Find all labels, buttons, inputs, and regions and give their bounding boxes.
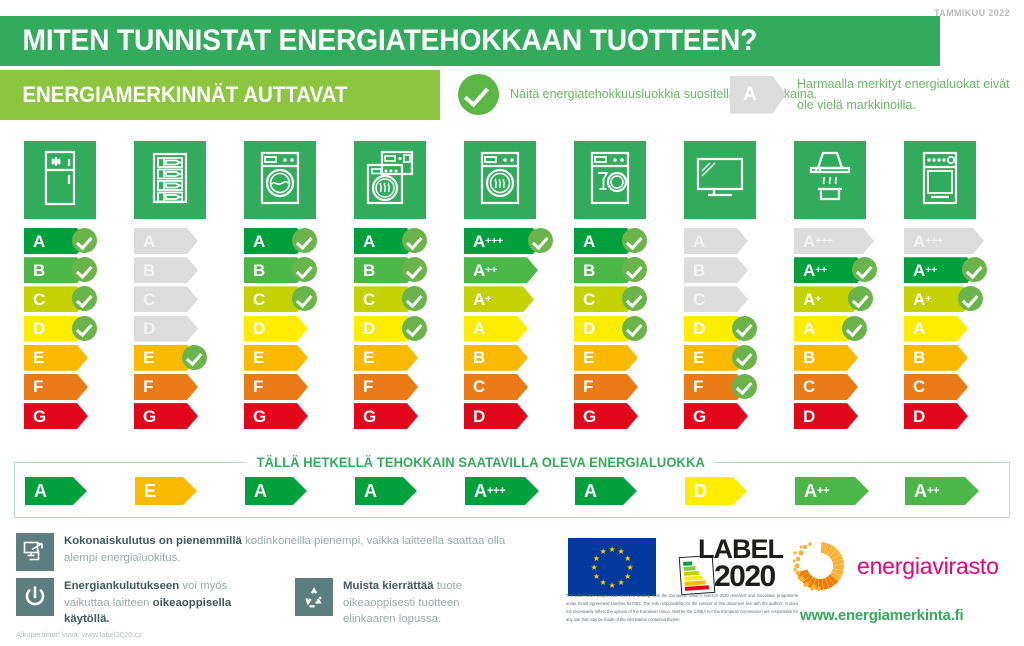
grade-row: G [354,403,454,429]
grade-row: C [794,374,894,400]
page-title: MITEN TUNNISTAT ENERGIATEHOKKAAN TUOTTEE… [0,24,757,58]
grade-label-D: D [904,403,968,429]
grade-row: B [464,345,564,371]
recommended-check-icon [622,257,647,282]
eu-star-icon: ★ [593,555,600,562]
website-url[interactable]: www.energiamerkinta.fi [800,607,963,624]
grade-label-A+++: A+++ [794,228,874,254]
appliance-icon-astianpesukone [574,141,646,219]
grade-row: A [574,228,674,254]
grade-row: B [134,257,234,283]
grade-row: A+++ [794,228,894,254]
grade-row: F [574,374,674,400]
grade-label-F: F [244,374,308,400]
grade-row: F [244,374,344,400]
grade-row: A+++ [464,228,564,254]
eu-star-icon: ★ [591,564,598,571]
grade-row: A [904,316,1004,342]
grade-row: C [904,374,1004,400]
grade-label-G: G [244,403,308,429]
grade-label-A: A [134,228,198,254]
footer-note-usage-text: Energiankulutukseen voi myös vaikuttaa l… [64,578,244,628]
grade-row: D [134,316,234,342]
eu-star-icon: ★ [593,573,600,580]
energy-column-pyykinpesukone: ABCDEFG [244,228,344,432]
recommended-check-icon [732,345,757,370]
recommended-check-icon [622,316,647,341]
recommended-check-icon [72,316,97,341]
grade-label-G: G [684,403,748,429]
grade-row: A [794,316,894,342]
recommended-check-icon [528,228,553,253]
grade-label-G: G [134,403,198,429]
energy-column-viinikaappi: ABCDEFG [134,228,234,432]
grade-row: C [684,286,784,312]
recommended-check-icon [962,257,987,282]
grade-row: F [134,374,234,400]
legend-unavailable: A Harmaalla merkityt energialuokat eivät… [730,74,1024,115]
appliance-icon-row [0,141,1024,219]
recommended-check-icon [732,374,757,399]
grade-label-F: F [574,374,638,400]
grade-row: A [464,316,564,342]
energy-column-jaakaappi: ABCDEFG [24,228,124,432]
energy-column-kuivausrumpu: A+++A++A+ABCD [464,228,564,432]
grade-row: B [354,257,454,283]
grade-row: G [684,403,784,429]
energy-column-televisio: ABCDEFG [684,228,784,432]
energy-class-grid: ABCDEFGABCDEFGABCDEFGABCDEFGA+++A++A+ABC… [0,228,1024,438]
recommended-check-icon [852,257,877,282]
eu-flag: ★★★★★★★★★★★★ [568,538,656,596]
eu-star-icon: ★ [600,579,607,586]
grade-label-E: E [24,345,88,371]
energy-column-uuni: A+++A++A+ABCD [904,228,1004,432]
recommended-check-icon [402,316,427,341]
grade-row: C [24,286,124,312]
energy-column-liesituuletin: A+++A++A+ABCD [794,228,894,432]
grade-row: B [24,257,124,283]
screen-arrow-icon [16,533,54,571]
grade-label-A++: A++ [464,257,538,283]
grade-row: D [354,316,454,342]
recommended-check-icon [292,228,317,253]
recommended-check-icon [182,345,207,370]
best-available-kuivaava pesukone: A [355,477,417,505]
grade-label-F: F [134,374,198,400]
grade-row: C [134,286,234,312]
appliance-icon-liesituuletin [794,141,866,219]
eu-star-icon: ★ [609,582,616,589]
power-icon [16,578,54,616]
page-subtitle: ENERGIAMERKINNÄT AUTTAVAT [0,82,347,108]
grade-row: C [354,286,454,312]
appliance-icon-viinikaappi [134,141,206,219]
grade-label-G: G [574,403,638,429]
note-bold-2: Muista kierrättää [343,580,434,592]
tumble-dryer-icon [474,149,526,212]
eu-star-icon: ★ [609,546,616,553]
note-bold-0: Kokonaiskulutus on pienemmillä [64,535,242,547]
grade-row: D [244,316,344,342]
grade-row: C [464,374,564,400]
grade-row: D [464,403,564,429]
eu-star-icon: ★ [624,555,631,562]
grade-row: A [134,228,234,254]
grade-label-A: A [684,228,748,254]
best-available-liesituuletin: A++ [795,477,869,505]
grade-row: B [794,345,894,371]
eu-star-icon: ★ [624,573,631,580]
grade-row: A [24,228,124,254]
grade-label-C: C [794,374,858,400]
infographic-root: TAMMIKUU 2022 MITEN TUNNISTAT ENERGIATEH… [0,0,1024,646]
footer-note-usage: Energiankulutukseen voi myös vaikuttaa l… [16,578,244,628]
grade-row: A++ [904,257,1004,283]
recycle-icon [295,578,333,616]
grade-row: D [574,316,674,342]
grade-row: C [244,286,344,312]
grade-row: D [904,403,1004,429]
grade-row: E [684,345,784,371]
recommended-check-icon [292,257,317,282]
note-bold-1: Energiankulutukseen [64,580,179,592]
grade-row: E [354,345,454,371]
grade-label-C: C [134,286,198,312]
appliance-icon-kuivaava pesukone [354,141,426,219]
eu-star-icon: ★ [627,564,634,571]
grade-row: E [134,345,234,371]
grade-row: E [244,345,344,371]
washing-machine-icon [254,149,306,212]
grade-row: B [574,257,674,283]
fridge-icon [34,149,86,212]
grade-label-D: D [244,316,308,342]
grade-row: A [354,228,454,254]
recommended-check-icon [72,286,97,311]
grade-row: G [574,403,674,429]
gray-grade-arrow-icon: A [730,76,786,114]
grade-row: B [904,345,1004,371]
grade-row: F [24,374,124,400]
footer-note-consumption-text: Kokonaiskulutus on pienemmillä kodinkone… [64,533,534,571]
best-available-astianpesukone: A [575,477,637,505]
grade-label-D: D [794,403,858,429]
label2020-logo: LABEL 2020 [676,534,796,596]
grade-row: D [684,316,784,342]
recommended-check-icon [842,316,867,341]
recommended-check-icon [732,316,757,341]
appliance-icon-kuivausrumpu [464,141,536,219]
grade-row: D [794,403,894,429]
recommended-check-icon [72,257,97,282]
appliance-icon-televisio [684,141,756,219]
appliance-icon-jaakaappi [24,141,96,219]
grade-row: A [684,228,784,254]
recommended-check-icon [402,286,427,311]
appliance-icon-pyykinpesukone [244,141,316,219]
image-credit: Alkuperäinen kuva: www.label2020.cz [16,630,142,639]
grade-label-B: B [794,345,858,371]
grade-row: E [574,345,674,371]
grade-row: F [684,374,784,400]
grade-label-A+: A+ [464,286,534,312]
legend-unavailable-text: Harmaalla merkityt energialuokat eivät o… [797,74,1024,115]
grade-row: A+++ [904,228,1004,254]
grade-row: A++ [794,257,894,283]
footer-note-recycle-text: Muista kierrättää tuote oikeaoppisesti t… [343,578,513,628]
recommended-check-icon [402,257,427,282]
dishwasher-icon [584,149,636,212]
title-bar: MITEN TUNNISTAT ENERGIATEHOKKAAN TUOTTEE… [0,16,940,66]
appliance-icon-uuni [904,141,976,219]
recommended-check-icon [72,228,97,253]
best-available-row: AEAAA+++ADA++A++ [15,463,1011,517]
grade-row: B [244,257,344,283]
wine-cooler-icon [144,149,196,212]
date-stamp: TAMMIKUU 2022 [934,8,1010,18]
best-available-viinikaappi: E [135,477,197,505]
energiavirasto-ring-icon [793,539,847,593]
best-available-jaakaappi: A [25,477,87,505]
grade-label-B: B [904,345,968,371]
recommended-check-icon [622,228,647,253]
cooker-hood-icon [804,149,856,212]
recommended-check-icon [402,228,427,253]
check-circle-icon [458,74,499,115]
grade-row: A+ [904,286,1004,312]
recommended-check-icon [848,286,873,311]
grade-label-B: B [464,345,528,371]
grade-label-D: D [464,403,528,429]
grade-label-F: F [354,374,418,400]
grade-label-E: E [574,345,638,371]
grade-row: G [244,403,344,429]
grade-label-C: C [464,374,528,400]
energiavirasto-name: energiavirasto [857,553,999,580]
grade-label-A: A [904,316,968,342]
grade-row: E [24,345,124,371]
recommended-check-icon [622,286,647,311]
grade-label-F: F [24,374,88,400]
grade-label-A: A [464,316,528,342]
grade-row: G [24,403,124,429]
grade-row: A+ [464,286,564,312]
footer-note-recycle: Muista kierrättää tuote oikeaoppisesti t… [295,578,513,628]
energy-column-kuivaava pesukone: ABCDEFG [354,228,454,432]
footer-note-consumption: Kokonaiskulutus on pienemmillä kodinkone… [16,533,534,571]
grade-row: F [354,374,454,400]
eu-funding-fineprint: The Label 2020 project has received fund… [566,592,798,624]
grade-label-C: C [684,286,748,312]
best-available-band: TÄLLÄ HETKELLÄ TEHOKKAIN SAATAVILLA OLEV… [14,462,1010,518]
grade-label-E: E [244,345,308,371]
recommended-check-icon [958,286,983,311]
grade-label-G: G [24,403,88,429]
grade-row: D [24,316,124,342]
washer-dryer-icon [364,149,416,212]
best-available-kuivausrumpu: A+++ [465,477,539,505]
grade-row: G [134,403,234,429]
grade-row: A+ [794,286,894,312]
grade-label-C: C [904,374,968,400]
grade-row: B [684,257,784,283]
grade-label-A+++: A+++ [904,228,984,254]
grade-row: A++ [464,257,564,283]
best-available-pyykinpesukone: A [245,477,307,505]
grade-label-B: B [684,257,748,283]
grade-label-E: E [354,345,418,371]
grade-label-D: D [134,316,198,342]
oven-icon [914,149,966,212]
eu-star-icon: ★ [618,579,625,586]
recommended-check-icon [292,286,317,311]
best-available-televisio: D [685,477,747,505]
best-available-uuni: A++ [905,477,979,505]
grade-row: C [574,286,674,312]
grade-label-G: G [354,403,418,429]
label2020-bottom-text: 2020 [714,560,775,594]
eu-star-icon: ★ [600,548,607,555]
grade-row: A [244,228,344,254]
energiavirasto-logo: energiavirasto [793,539,999,593]
grade-label-B: B [134,257,198,283]
subtitle-bar: ENERGIAMERKINNÄT AUTTAVAT [0,70,440,120]
energy-column-astianpesukone: ABCDEFG [574,228,674,432]
television-icon [694,149,746,212]
